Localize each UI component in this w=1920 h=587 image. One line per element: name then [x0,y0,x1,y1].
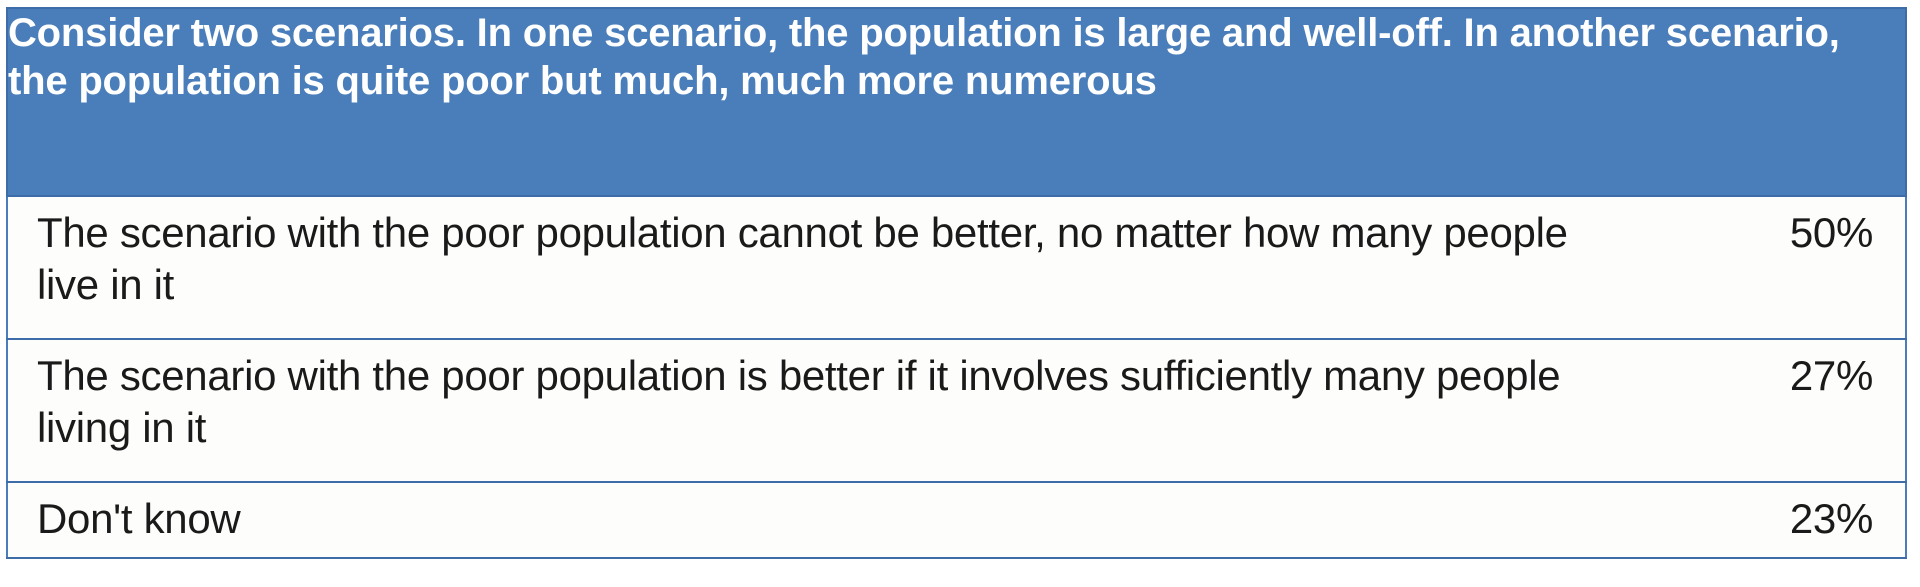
answer-percent-1: 50% [1622,207,1873,259]
answer-label-cell-1: The scenario with the poor population ca… [7,196,1622,339]
answer-label-1: The scenario with the poor population ca… [37,207,1622,310]
poll-question-cell: Consider two scenarios. In one scenario,… [7,8,1906,196]
table-row: The scenario with the poor population is… [7,339,1906,482]
table-row: The scenario with the poor population ca… [7,196,1906,339]
answer-percent-3: 23% [1622,493,1873,545]
answer-label-cell-2: The scenario with the poor population is… [7,339,1622,482]
answer-percent-cell-3: 23% [1622,482,1906,558]
poll-results-table: Consider two scenarios. In one scenario,… [6,7,1907,559]
page-title: Consider two scenarios. In one scenario,… [8,9,1905,105]
table-header-row: Consider two scenarios. In one scenario,… [7,8,1906,196]
answer-label-2: The scenario with the poor population is… [37,350,1622,453]
table-row: Don't know 23% [7,482,1906,558]
answer-percent-cell-2: 27% [1622,339,1906,482]
answer-percent-2: 27% [1622,350,1873,402]
answer-label-cell-3: Don't know [7,482,1622,558]
answer-percent-cell-1: 50% [1622,196,1906,339]
answer-label-3: Don't know [37,493,1622,545]
